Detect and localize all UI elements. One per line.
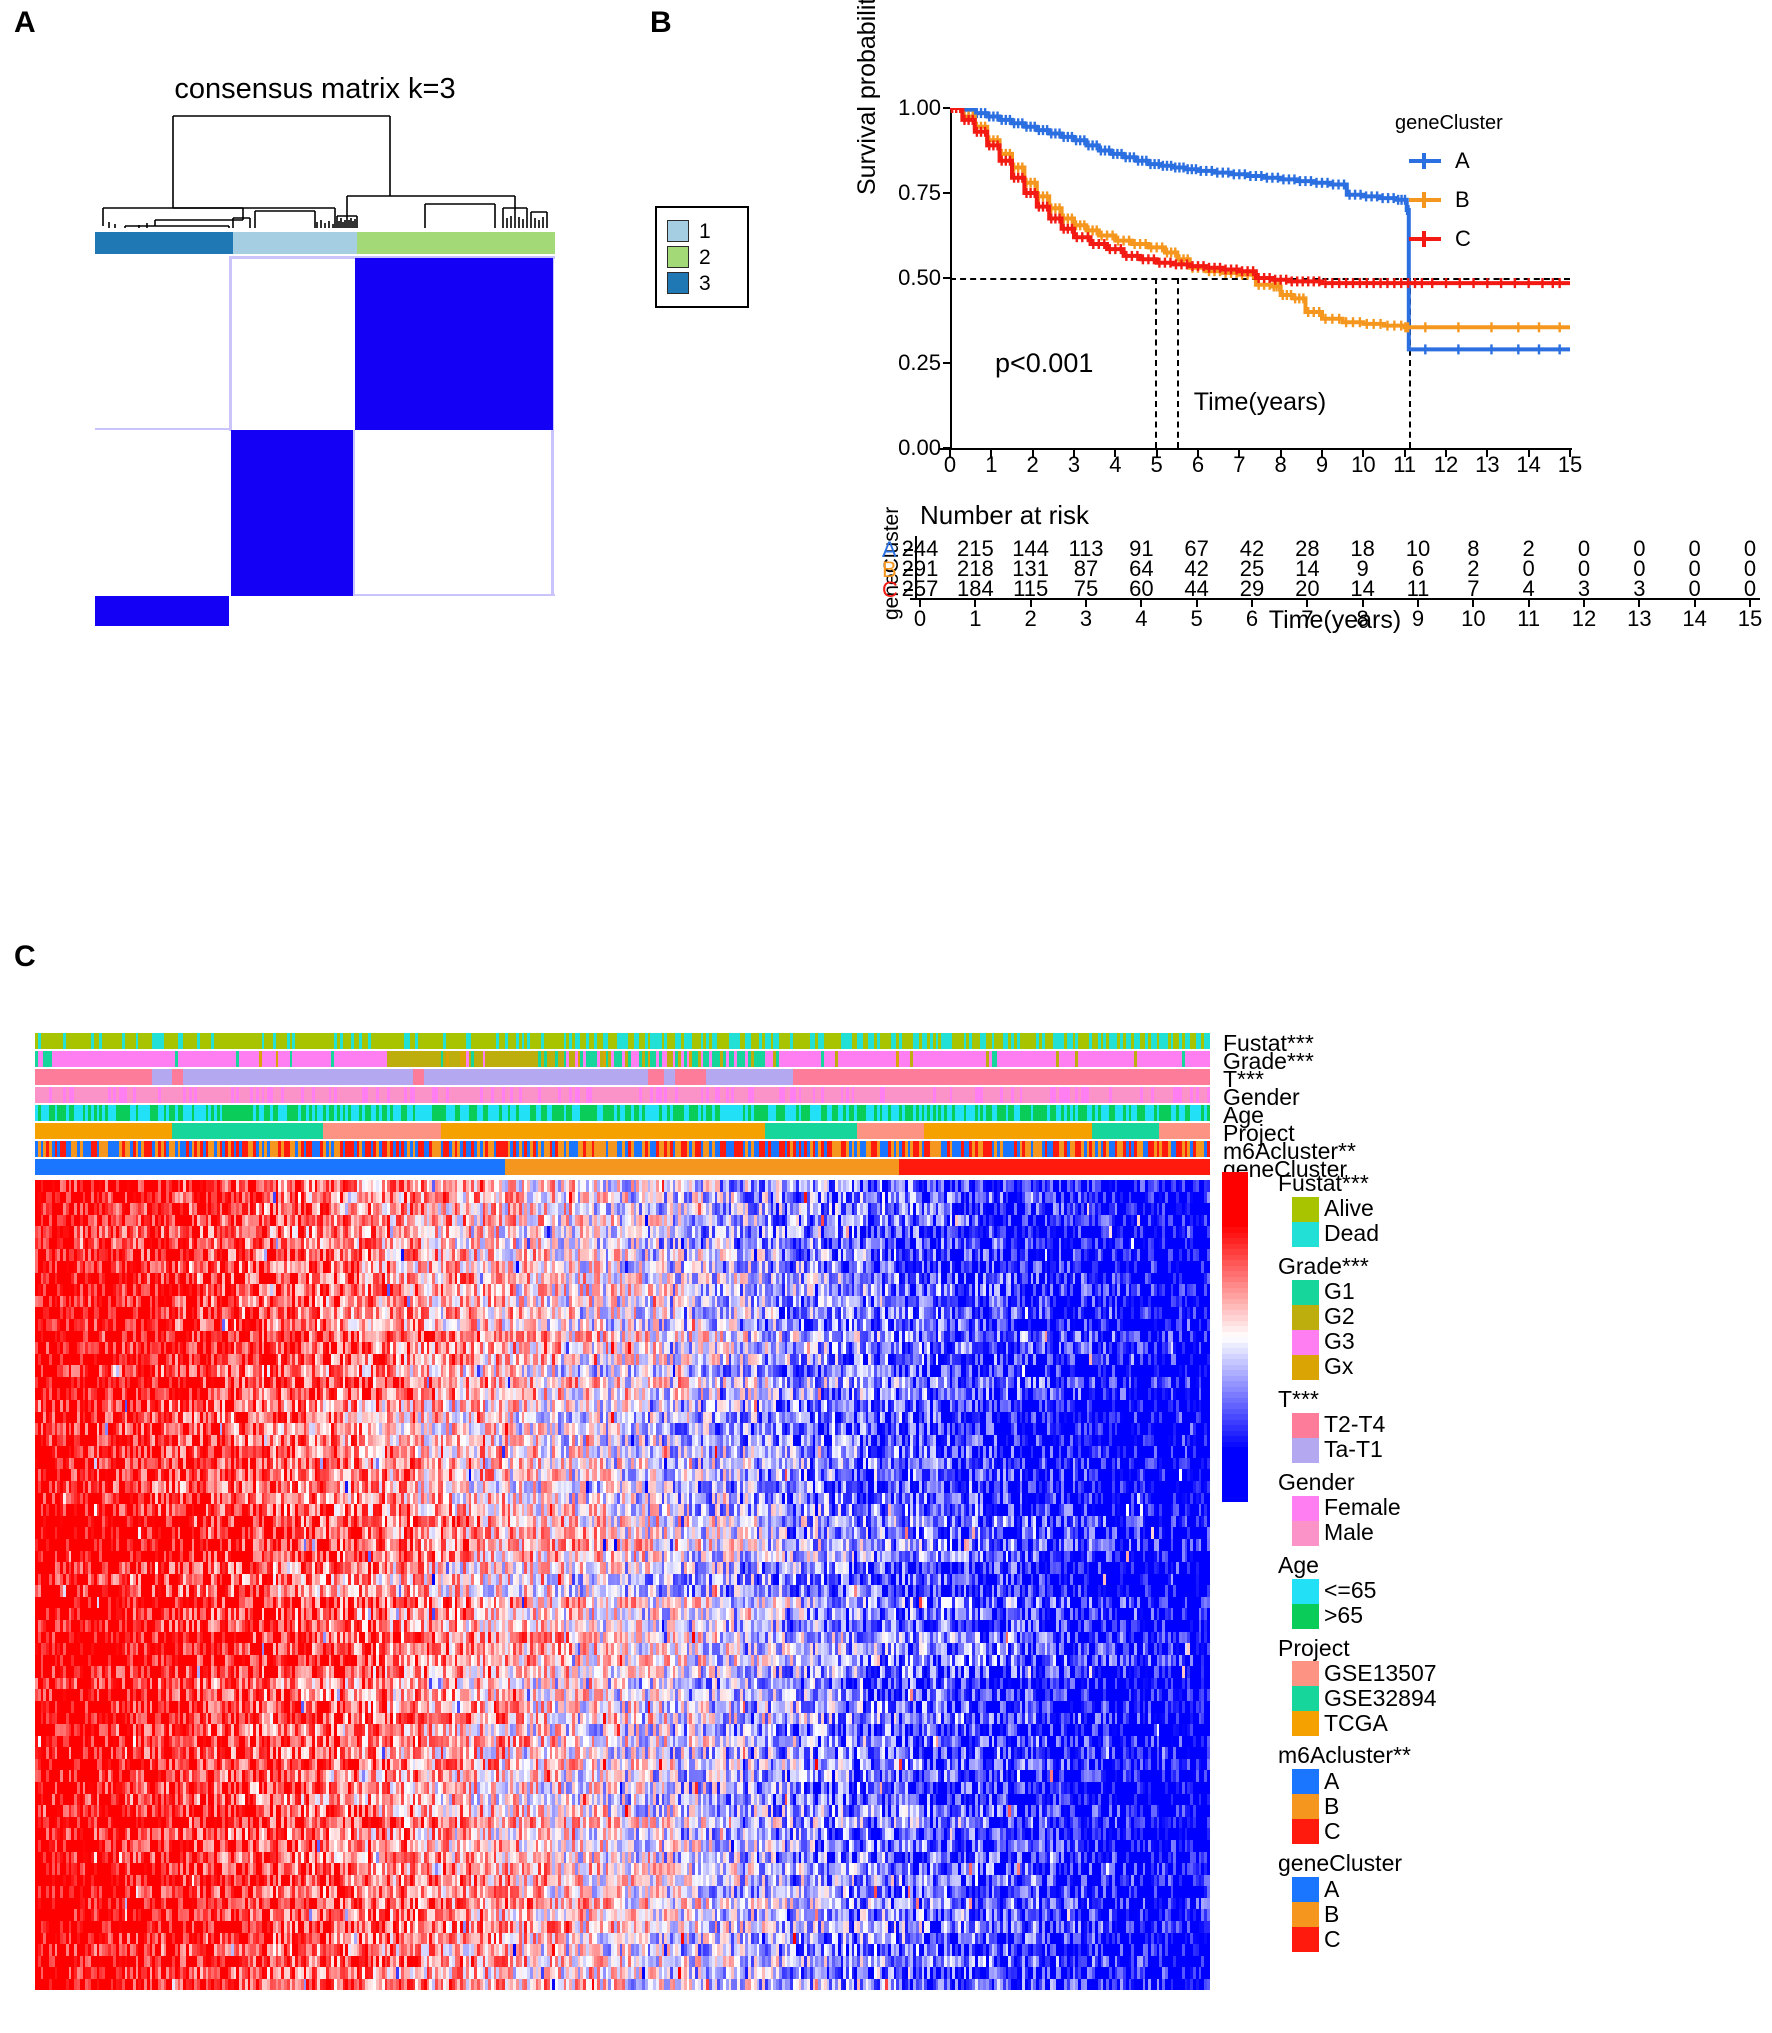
- legend-item: B: [1292, 1902, 1437, 1927]
- legend-swatch: [1292, 1661, 1319, 1686]
- legend-item: >65: [1292, 1604, 1437, 1629]
- legend-item: Gx: [1292, 1355, 1437, 1380]
- legend-item: A: [1292, 1769, 1437, 1794]
- legend-item: C: [1292, 1819, 1437, 1844]
- legend-swatch: [1292, 1197, 1319, 1222]
- km-legend-label: C: [1455, 226, 1471, 252]
- legend-item-label: T2-T4: [1324, 1413, 1385, 1437]
- dendrogram: [95, 108, 555, 228]
- km-y-tick-label: 0.00: [898, 435, 941, 461]
- heatmap-row: [35, 1354, 1215, 1366]
- heatmap-row: [35, 1574, 1215, 1586]
- km-legend-marker-icon: [1409, 159, 1441, 163]
- km-y-tick-mark: [943, 192, 950, 194]
- km-x-tick-mark: [1238, 450, 1240, 457]
- heatmap-row: [35, 1632, 1215, 1644]
- km-legend: geneCluster ABC: [1395, 112, 1503, 265]
- risk-cell: 3: [1578, 576, 1590, 602]
- panel-a-legend: 1 2 3: [655, 206, 749, 308]
- heatmap-row: [35, 1238, 1215, 1250]
- legend-item: G1: [1292, 1280, 1437, 1305]
- legend-label-1: 1: [699, 221, 711, 242]
- km-x-tick-mark: [1073, 450, 1075, 457]
- heatmap-row: [35, 1319, 1215, 1331]
- consensus-block-3: [95, 596, 229, 626]
- legend-item: Ta-T1: [1292, 1438, 1437, 1463]
- km-legend-rows: ABC: [1395, 148, 1503, 252]
- cluster-bar-2: [357, 232, 555, 254]
- legend-item: G2: [1292, 1305, 1437, 1330]
- heatmap-row: [35, 1469, 1215, 1481]
- consensus-block-1: [231, 430, 353, 596]
- consensus-block-2: [355, 258, 553, 430]
- heatmap-row: [35, 1226, 1215, 1238]
- km-y-axis-label: Survival probability: [853, 0, 882, 195]
- km-x-tick-mark: [1114, 450, 1116, 457]
- heatmap-row: [35, 1192, 1215, 1204]
- legend-item: TCGA: [1292, 1711, 1437, 1736]
- heatmap-row: [35, 1840, 1215, 1852]
- heatmap-row: [35, 1585, 1215, 1597]
- risk-table-title: Number at risk: [920, 500, 1089, 531]
- legend-item: Female: [1292, 1496, 1437, 1521]
- km-y-tick-label: 0.75: [898, 180, 941, 206]
- annotation-row-Project: [35, 1123, 1215, 1139]
- heatmap-row: [35, 1979, 1215, 1991]
- heatmap-row: [35, 1701, 1215, 1713]
- km-y-tick-mark: [943, 447, 950, 449]
- km-x-tick-mark: [1445, 450, 1447, 457]
- heatmap-row: [35, 1400, 1215, 1412]
- legend-item-3: 3: [667, 272, 741, 294]
- legend-swatch: [1292, 1280, 1319, 1305]
- legend-item: B: [1292, 1794, 1437, 1819]
- km-y-tick-mark: [943, 362, 950, 364]
- legend-group-title: geneCluster: [1278, 1852, 1437, 1876]
- legend-swatch: [1292, 1355, 1319, 1380]
- heatmap-row: [35, 1643, 1215, 1655]
- heatmap-row: [35, 1249, 1215, 1261]
- legend-item-label: Female: [1324, 1496, 1401, 1520]
- consensus-title-text: consensus matrix k=3: [174, 73, 455, 105]
- km-pvalue-annotation: p<0.001: [995, 348, 1093, 379]
- heatmap-row: [35, 1423, 1215, 1435]
- legend-item-label: C: [1324, 1928, 1341, 1952]
- consensus-matrix-plot: [95, 256, 555, 626]
- heatmap-row: [35, 1446, 1215, 1458]
- heatmap-row: [35, 1689, 1215, 1701]
- km-legend-marker-icon: [1409, 237, 1441, 241]
- km-x-tick-mark: [1321, 450, 1323, 457]
- heatmap-row: [35, 1597, 1215, 1609]
- km-x-tick-mark: [990, 450, 992, 457]
- legend-item-label: Male: [1324, 1521, 1374, 1545]
- heatmap-row: [35, 1516, 1215, 1528]
- legend-group-title: Gender: [1278, 1471, 1437, 1495]
- heatmap-row: [35, 1527, 1215, 1539]
- legend-swatch: [1292, 1769, 1319, 1794]
- heatmap-row: [35, 1747, 1215, 1759]
- heatmap-row: [35, 1794, 1215, 1806]
- km-y-tick-label: 1.00: [898, 95, 941, 121]
- legend-item-label: Dead: [1324, 1222, 1379, 1246]
- heatmap-row: [35, 1817, 1215, 1829]
- km-legend-label: B: [1455, 187, 1470, 213]
- heatmap-row: [35, 1655, 1215, 1667]
- risk-cell: 7: [1467, 576, 1479, 602]
- heatmap-row: [35, 1331, 1215, 1343]
- heatmap-row: [35, 1261, 1215, 1273]
- risk-cell: 20: [1295, 576, 1319, 602]
- km-legend-marker-icon: [1409, 198, 1441, 202]
- risk-cell: 0: [1689, 576, 1701, 602]
- heatmap-row: [35, 1933, 1215, 1945]
- heatmap-row: [35, 1759, 1215, 1771]
- legend-item-label: C: [1324, 1820, 1341, 1844]
- km-y-tick-mark: [943, 107, 950, 109]
- heatmap-row: [35, 1412, 1215, 1424]
- heatmap-row: [35, 1388, 1215, 1400]
- annotation-row-m6Acluster: [35, 1141, 1215, 1157]
- risk-table-x-label: Time(years): [920, 606, 1750, 635]
- legend-swatch-3: [667, 272, 689, 294]
- km-x-axis: [940, 448, 1572, 450]
- risk-cell: 115: [1013, 576, 1048, 602]
- legend-swatch: [1292, 1579, 1319, 1604]
- heatmap-row: [35, 1551, 1215, 1563]
- legend-label-2: 2: [699, 247, 711, 268]
- annotation-row-Fustat: [35, 1033, 1215, 1049]
- heatmap-row: [35, 1458, 1215, 1470]
- heatmap-row: [35, 1898, 1215, 1910]
- km-y-tick-label: 0.25: [898, 350, 941, 376]
- heatmap-row: [35, 1539, 1215, 1551]
- heatmap-row: [35, 1956, 1215, 1968]
- legend-swatch-1: [667, 220, 689, 242]
- annotation-row-Age: [35, 1105, 1215, 1121]
- panel-c-heatmap: C Fustat***Grade***T***GenderAgeProjectm…: [0, 950, 1772, 2033]
- legend-swatch-2: [667, 246, 689, 268]
- heatmap-row: [35, 1886, 1215, 1898]
- heatmap-row: [35, 1435, 1215, 1447]
- panel-a-consensus-matrix: A consensus matrix k=3: [0, 0, 760, 660]
- heatmap-row: [35, 1782, 1215, 1794]
- heatmap-row: [35, 1713, 1215, 1725]
- heatmap-row: [35, 1620, 1215, 1632]
- legend-swatch: [1292, 1902, 1319, 1927]
- legend-item: C: [1292, 1927, 1437, 1952]
- heatmap-row: [35, 1921, 1215, 1933]
- km-x-tick-mark: [1032, 450, 1034, 457]
- heatmap-row: [35, 1481, 1215, 1493]
- legend-swatch: [1292, 1604, 1319, 1629]
- risk-cell: 75: [1074, 576, 1098, 602]
- legend-item: GSE32894: [1292, 1686, 1437, 1711]
- heatmap-row: [35, 1666, 1215, 1678]
- legend-item: A: [1292, 1877, 1437, 1902]
- km-x-tick-mark: [1197, 450, 1199, 457]
- legend-group-title: Project: [1278, 1637, 1437, 1661]
- heatmap-row: [35, 1377, 1215, 1389]
- km-legend-label: A: [1455, 148, 1470, 174]
- km-x-tick-mark: [1486, 450, 1488, 457]
- heatmap-row: [35, 1504, 1215, 1516]
- legend-swatch: [1292, 1330, 1319, 1355]
- heatmap-matrix: [35, 1180, 1215, 1990]
- km-x-tick-mark: [1528, 450, 1530, 457]
- legend-item: T2-T4: [1292, 1413, 1437, 1438]
- km-x-tick-mark: [1280, 450, 1282, 457]
- legend-group-title: Grade***: [1278, 1255, 1437, 1279]
- risk-cell: 0: [1744, 576, 1756, 602]
- risk-cell: 184: [957, 576, 994, 602]
- legend-item-label: GSE13507: [1324, 1662, 1437, 1686]
- cluster-bar-1: [233, 232, 357, 254]
- heatmap-row: [35, 1863, 1215, 1875]
- legend-item: G3: [1292, 1330, 1437, 1355]
- heatmap-row: [35, 1493, 1215, 1505]
- km-x-tick-mark: [1156, 450, 1158, 457]
- legend-swatch: [1292, 1413, 1319, 1438]
- km-x-tick-mark: [1404, 450, 1406, 457]
- legend-swatch: [1292, 1438, 1319, 1463]
- legend-swatch: [1292, 1927, 1319, 1952]
- heatmap-row: [35, 1875, 1215, 1887]
- colorbar-step: [1222, 1497, 1248, 1503]
- legend-swatch: [1292, 1686, 1319, 1711]
- legend-group-title: Fustat***: [1278, 1172, 1437, 1196]
- heatmap-row: [35, 1365, 1215, 1377]
- km-x-axis-label: Time(years): [950, 388, 1570, 417]
- legend-item: Male: [1292, 1521, 1437, 1546]
- legend-item-label: B: [1324, 1903, 1339, 1927]
- km-x-tick-mark: [949, 450, 951, 457]
- annotation-row-geneCluster: [35, 1159, 1215, 1175]
- legend-item-label: Gx: [1324, 1355, 1353, 1379]
- risk-cell: 60: [1129, 576, 1153, 602]
- risk-cell: 29: [1240, 576, 1264, 602]
- risk-cell: 44: [1184, 576, 1208, 602]
- km-y-tick-label: 0.50: [898, 265, 941, 291]
- km-y-tick-mark: [943, 277, 950, 279]
- heatmap-row: [35, 1273, 1215, 1285]
- legend-item: <=65: [1292, 1579, 1437, 1604]
- heatmap-row: [35, 1307, 1215, 1319]
- legend-item-label: G1: [1324, 1280, 1355, 1304]
- heatmap-row: [35, 1678, 1215, 1690]
- legend-group-title: T***: [1278, 1388, 1437, 1412]
- heatmap-row: [35, 1944, 1215, 1956]
- legend-item-label: <=65: [1324, 1579, 1376, 1603]
- km-legend-item-A[interactable]: A: [1409, 148, 1503, 174]
- legend-item-label: A: [1324, 1770, 1339, 1794]
- panel-c-letter: C: [14, 942, 36, 972]
- risk-cell: 257: [902, 576, 939, 602]
- legend-item-label: G3: [1324, 1330, 1355, 1354]
- legend-swatch: [1292, 1711, 1319, 1736]
- legend-swatch: [1292, 1794, 1319, 1819]
- annotation-row-T: [35, 1069, 1215, 1085]
- legend-item: GSE13507: [1292, 1661, 1437, 1686]
- heatmap-row: [35, 1967, 1215, 1979]
- heatmap-row: [35, 1805, 1215, 1817]
- legend-swatch: [1292, 1496, 1319, 1521]
- legend-item: Dead: [1292, 1222, 1437, 1247]
- heatmap-row: [35, 1909, 1215, 1921]
- cluster-bar-3: [95, 232, 233, 254]
- heatmap-row: [35, 1828, 1215, 1840]
- heatmap-row: [35, 1284, 1215, 1296]
- km-legend-item-B[interactable]: B: [1409, 187, 1503, 213]
- legend-item-label: A: [1324, 1878, 1339, 1902]
- legend-item-label: >65: [1324, 1604, 1363, 1628]
- risk-row-label-C: C: [882, 577, 898, 603]
- heatmap-row: [35, 1342, 1215, 1354]
- km-x-tick-mark: [1569, 450, 1571, 457]
- heatmap-row: [35, 1203, 1215, 1215]
- consensus-matrix-title: consensus matrix k=3: [150, 73, 480, 106]
- heatmap-row: [35, 1608, 1215, 1620]
- heatmap-row: [35, 1215, 1215, 1227]
- legend-item-1: 1: [667, 220, 741, 242]
- heatmap-row: [35, 1724, 1215, 1736]
- heatmap-annotation-bars: Fustat***Grade***T***GenderAgeProjectm6A…: [35, 1033, 1215, 1177]
- legend-item-label: Ta-T1: [1324, 1438, 1383, 1462]
- legend-swatch: [1292, 1877, 1319, 1902]
- legend-item-label: Alive: [1324, 1197, 1374, 1221]
- panel-b-letter: B: [650, 8, 672, 38]
- heatmap-colorbar: [1222, 1172, 1248, 1502]
- heatmap-row: [35, 1736, 1215, 1748]
- annotation-row-Gender: [35, 1087, 1215, 1103]
- legend-group-title: m6Acluster**: [1278, 1744, 1437, 1768]
- legend-item-2: 2: [667, 246, 741, 268]
- km-legend-title: geneCluster: [1395, 112, 1503, 135]
- legend-item: Alive: [1292, 1197, 1437, 1222]
- legend-item-label: GSE32894: [1324, 1687, 1437, 1711]
- km-legend-item-C[interactable]: C: [1409, 226, 1503, 252]
- legend-item-label: TCGA: [1324, 1712, 1388, 1736]
- risk-cell: 3: [1633, 576, 1645, 602]
- legend-group-title: Age: [1278, 1554, 1437, 1578]
- heatmap-row: [35, 1770, 1215, 1782]
- heatmap-row: [35, 1296, 1215, 1308]
- legend-label-3: 3: [699, 273, 711, 294]
- risk-table-grid: A244215144113916742281810820000B29121813…: [920, 536, 1750, 598]
- heatmap-row: [35, 1562, 1215, 1574]
- legend-swatch: [1292, 1305, 1319, 1330]
- panel-a-letter: A: [14, 8, 36, 38]
- annotation-row-Grade: [35, 1051, 1215, 1067]
- risk-cell: 14: [1350, 576, 1374, 602]
- risk-cell: 4: [1523, 576, 1535, 602]
- heatmap-row: [35, 1180, 1215, 1192]
- km-x-tick-mark: [1362, 450, 1364, 457]
- risk-cell: 11: [1407, 576, 1430, 602]
- legend-swatch: [1292, 1521, 1319, 1546]
- legend-swatch: [1292, 1222, 1319, 1247]
- heatmap-legend: Fustat***AliveDeadGrade***G1G2G3GxT***T2…: [1278, 1172, 1437, 1952]
- legend-swatch: [1292, 1819, 1319, 1844]
- legend-item-label: B: [1324, 1795, 1339, 1819]
- legend-item-label: G2: [1324, 1305, 1355, 1329]
- heatmap-row: [35, 1852, 1215, 1864]
